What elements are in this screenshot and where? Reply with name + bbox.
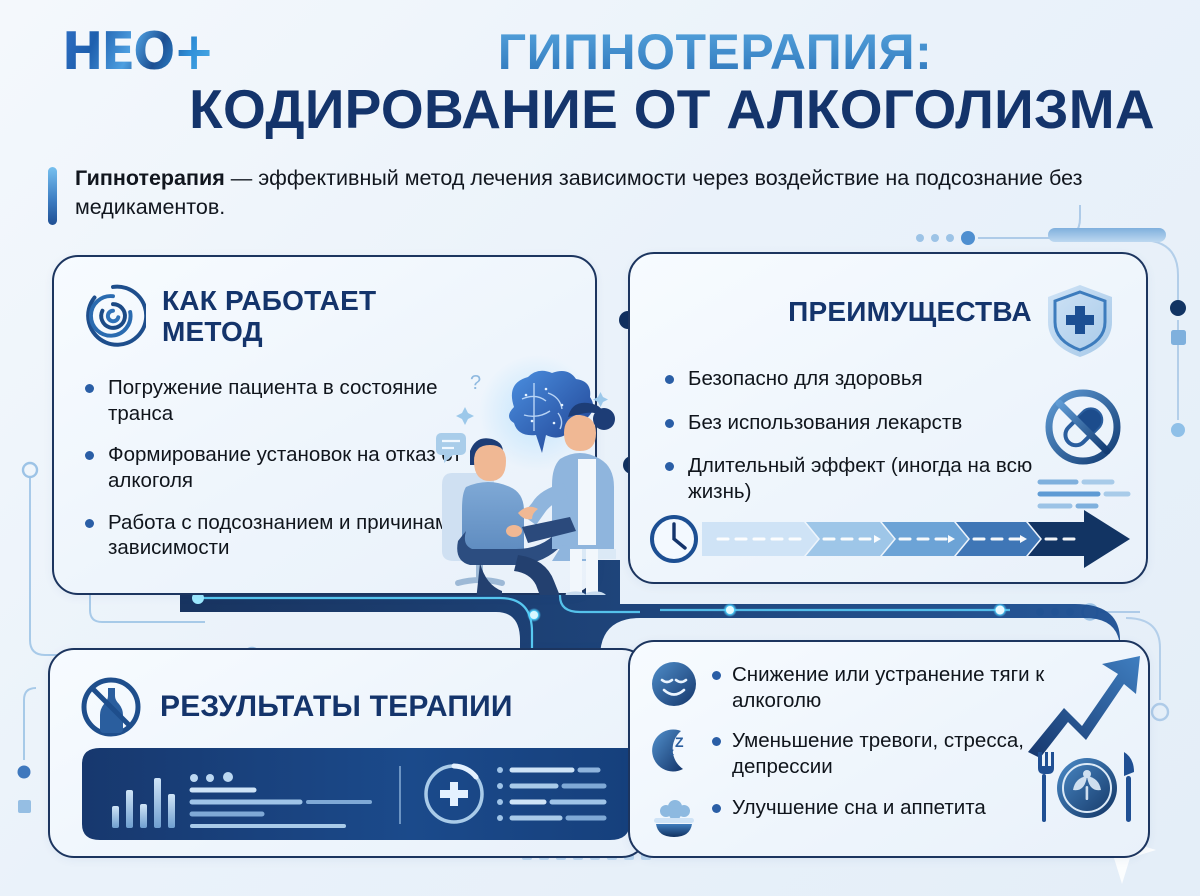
card-results-header: РЕЗУЛЬТАТЫ ТЕРАПИИ <box>78 674 513 740</box>
svg-text:Z: Z <box>675 734 684 750</box>
card-benefits[interactable]: ПРЕИМУЩЕСТВА Безопасно для здоровья Без … <box>628 252 1148 584</box>
chevron-arrow-icon <box>702 510 1130 568</box>
fork <box>1038 752 1054 822</box>
intro-accent-bar <box>48 167 57 225</box>
hypnosis-spiral-icon <box>80 279 146 353</box>
list-item: Погружение пациента в состояние транса <box>82 375 462 426</box>
knife <box>1124 752 1134 822</box>
calm-face-icon <box>646 656 702 712</box>
list-item: Длительный эффект (иногда на всю жизнь) <box>662 453 1052 504</box>
no-pills-icon <box>1042 386 1124 468</box>
duration-timeline <box>646 508 1134 570</box>
card-how-method-works[interactable]: КАК РАБОТАЕТ МЕТОД Погружение пациента в… <box>52 255 597 595</box>
title-line-1: ГИПНОТЕРАПИЯ: <box>250 26 1180 79</box>
intro-block: Гипнотерапия — эффективный метод лечения… <box>48 164 1118 225</box>
healthy-plate-icon <box>1034 746 1140 830</box>
card-results-title: РЕЗУЛЬТАТЫ ТЕРАПИИ <box>160 690 513 724</box>
intro-rest: — эффективный метод лечения зависимости … <box>75 166 1082 219</box>
benefits-bullet-list: Безопасно для здоровья Без использования… <box>662 366 1052 523</box>
outcome-text: Улучшение сна и аппетита <box>710 789 986 821</box>
list-item: Работа с подсознанием и причинами зависи… <box>82 510 462 561</box>
card-benefits-title: ПРЕИМУЩЕСТВА <box>760 296 1060 327</box>
card-method-title: КАК РАБОТАЕТ МЕТОД <box>162 285 450 348</box>
page-title: ГИПНОТЕРАПИЯ: КОДИРОВАНИЕ ОТ АЛКОГОЛИЗМА <box>250 26 1180 138</box>
list-item: Безопасно для здоровья <box>662 366 1052 392</box>
card-therapy-results[interactable]: РЕЗУЛЬТАТЫ ТЕРАПИИ <box>48 648 648 858</box>
card-method-header: КАК РАБОТАЕТ МЕТОД <box>80 279 450 353</box>
list-item: Без использования лекарств <box>662 410 1052 436</box>
moon-sleep-icon: Z z <box>646 722 702 778</box>
therapy-session-illustration: ? <box>422 355 662 595</box>
trend-up-arrow-icon <box>1026 648 1146 758</box>
question-mark-icon: ? <box>470 372 481 394</box>
svg-text:z: z <box>669 747 674 758</box>
intro-paragraph: Гипнотерапия — эффективный метод лечения… <box>75 164 1118 221</box>
list-item: Формирование установок на отказ от алког… <box>82 442 462 493</box>
intro-lead: Гипнотерапия <box>75 166 225 190</box>
results-dashboard-panel <box>82 748 630 846</box>
clock-icon <box>652 517 696 561</box>
circuit-node-filled <box>1170 300 1186 316</box>
title-line-2: КОДИРОВАНИЕ ОТ АЛКОГОЛИЗМА <box>164 81 1180 138</box>
decor-pill <box>1048 228 1166 242</box>
chat-bubble-icon <box>436 433 466 463</box>
card-outcomes[interactable]: Снижение или устранение тяги к алкоголю … <box>628 640 1150 858</box>
shield-cross-icon <box>1044 282 1116 360</box>
brand-logo[interactable]: НЕО+ <box>62 26 213 78</box>
method-bullet-list: Погружение пациента в состояние транса Ф… <box>82 375 462 577</box>
circuit-node <box>23 463 37 477</box>
page-header: НЕО+ ГИПНОТЕРАПИЯ: КОДИРОВАНИЕ ОТ АЛКОГО… <box>0 0 1200 155</box>
no-alcohol-icon <box>78 674 144 740</box>
food-bowl-icon <box>646 789 702 845</box>
